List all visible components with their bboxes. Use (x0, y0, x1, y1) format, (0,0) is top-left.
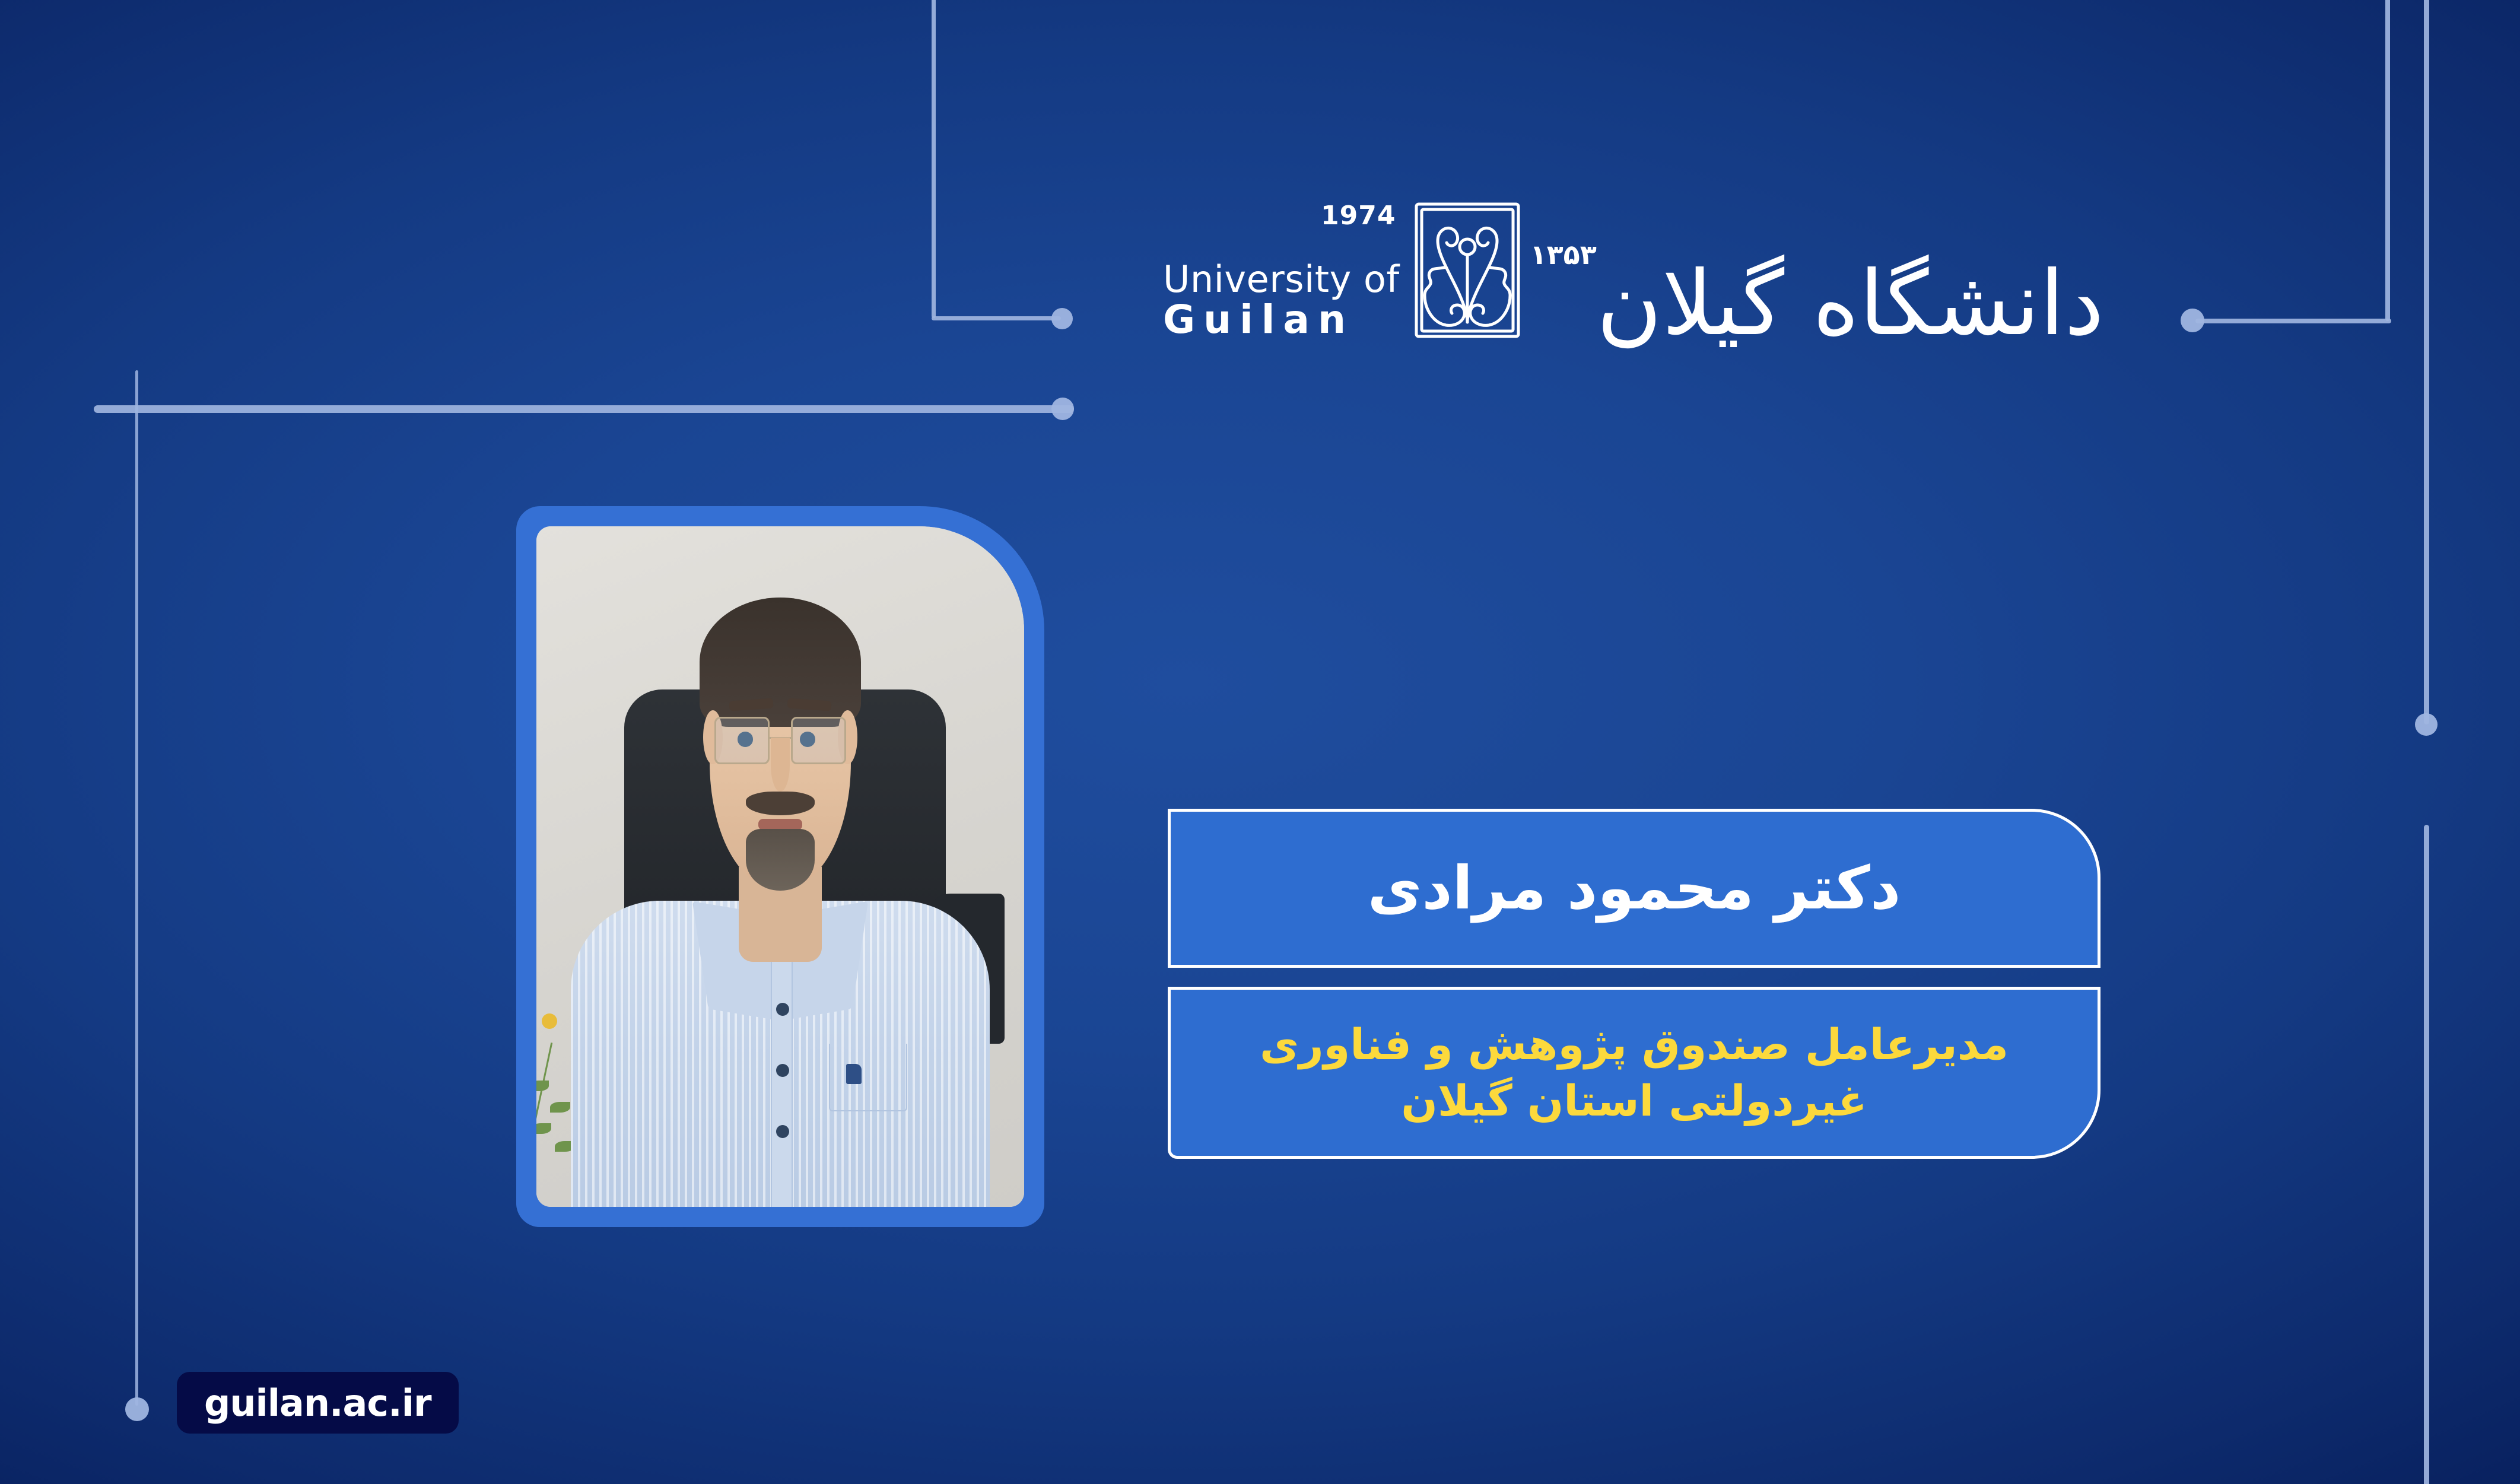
butterfly-emblem-icon (1410, 201, 1524, 340)
decor-line-top-center-horizontal (932, 316, 1061, 320)
decor-line-left-vertical (135, 370, 138, 1406)
plant-leaf (536, 1081, 549, 1091)
person-mouth (758, 819, 802, 830)
poster-canvas: 1974 University of Guilan ۱۳۵۳ دانشگاه گ… (0, 0, 2520, 1484)
person-role-banner: مدیرعامل صندوق پژوهش و فناوری غیردولتی ا… (1168, 987, 2100, 1159)
person-role: مدیرعامل صندوق پژوهش و فناوری غیردولتی ا… (1238, 1016, 2030, 1129)
person-name: دکتر محمود مرادی (1368, 856, 1901, 921)
decor-line-far-right-vertical-lower (2424, 825, 2429, 1484)
person-name-banner: دکتر محمود مرادی (1168, 809, 2100, 968)
logo-year-gregorian: 1974 (1321, 203, 1396, 229)
decor-line-far-right-vertical-upper (2424, 0, 2429, 724)
decor-line-top-right-horizontal (2195, 319, 2391, 323)
person-hair (700, 598, 860, 727)
plant-leaf (536, 1123, 551, 1134)
decor-dot-top-right (2181, 309, 2204, 332)
plant-flower (542, 1013, 557, 1029)
eyeglass-lens-right (791, 717, 846, 764)
portrait-photo (536, 526, 1024, 1207)
decor-dot-top-center (1051, 308, 1073, 329)
shirt-pocket (829, 1044, 907, 1112)
logo-english-block: 1974 University of Guilan (1163, 201, 1404, 340)
person-role-line1: مدیرعامل صندوق پژوهش و فناوری (1260, 1019, 2009, 1069)
logo-english-line1: University of (1163, 260, 1400, 298)
logo-persian-block: ۱۳۵۳ دانشگاه گیلان (1530, 201, 2113, 340)
person-role-line2: غیردولتی استان گیلان (1401, 1076, 1867, 1126)
decor-dot-far-right (2415, 713, 2438, 736)
website-url-badge[interactable]: guilan.ac.ir (177, 1372, 459, 1434)
eyeglass-lens-left (714, 717, 770, 764)
shirt-pocket-logo (846, 1064, 862, 1084)
logo-year-persian: ۱۳۵۳ (1530, 239, 1597, 271)
plant-leaf (550, 1102, 570, 1113)
logo-persian-name: دانشگاه گیلان (1597, 263, 2104, 345)
website-url-text: guilan.ac.ir (204, 1381, 431, 1425)
portrait-frame (516, 506, 1044, 1227)
decor-line-top-center-vertical (932, 0, 936, 318)
decor-dot-upper-left (1051, 398, 1074, 420)
decor-line-upper-left-horizontal (94, 405, 1074, 413)
logo-english-line2: Guilan (1163, 300, 1354, 339)
decor-line-top-right-vertical (2385, 0, 2390, 321)
university-logo: 1974 University of Guilan ۱۳۵۳ دانشگاه گ… (1163, 196, 2112, 344)
shirt-placket (771, 948, 793, 1207)
person-beard (746, 829, 814, 890)
decor-dot-bottom-left (125, 1397, 149, 1421)
